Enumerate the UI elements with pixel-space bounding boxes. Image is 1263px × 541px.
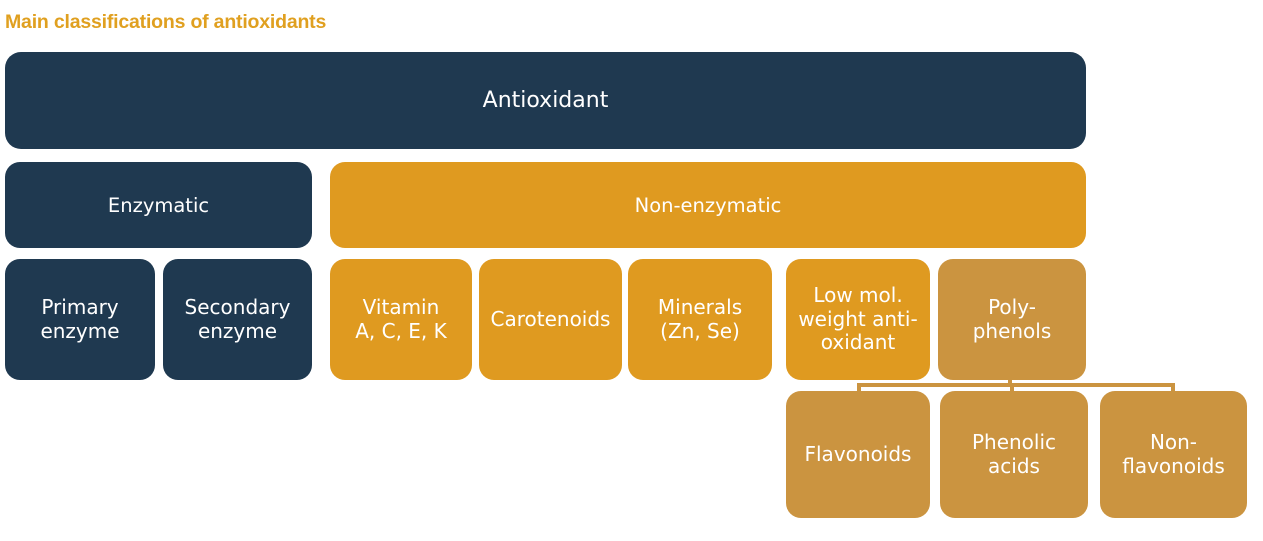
node-primary-enzyme[interactable]: Primary enzyme: [5, 259, 155, 380]
node-flavonoids[interactable]: Flavonoids: [786, 391, 930, 518]
diagram-canvas: Main classifications of antioxidants Ant…: [0, 0, 1263, 541]
page-title: Main classifications of antioxidants: [5, 11, 326, 34]
connector-horizontal-bar: [857, 383, 1175, 387]
node-non-enzymatic[interactable]: Non-enzymatic: [330, 162, 1086, 248]
node-antioxidant[interactable]: Antioxidant: [5, 52, 1086, 149]
node-carotenoids[interactable]: Carotenoids: [479, 259, 622, 380]
node-secondary-enzyme[interactable]: Secondary enzyme: [163, 259, 312, 380]
node-minerals[interactable]: Minerals (Zn, Se): [628, 259, 772, 380]
node-vitamin[interactable]: Vitamin A, C, E, K: [330, 259, 472, 380]
node-low-mol-weight-antioxidant[interactable]: Low mol. weight anti- oxidant: [786, 259, 930, 380]
node-polyphenols[interactable]: Poly- phenols: [938, 259, 1086, 380]
node-non-flavonoids[interactable]: Non- flavonoids: [1100, 391, 1247, 518]
node-phenolic-acids[interactable]: Phenolic acids: [940, 391, 1088, 518]
node-enzymatic[interactable]: Enzymatic: [5, 162, 312, 248]
